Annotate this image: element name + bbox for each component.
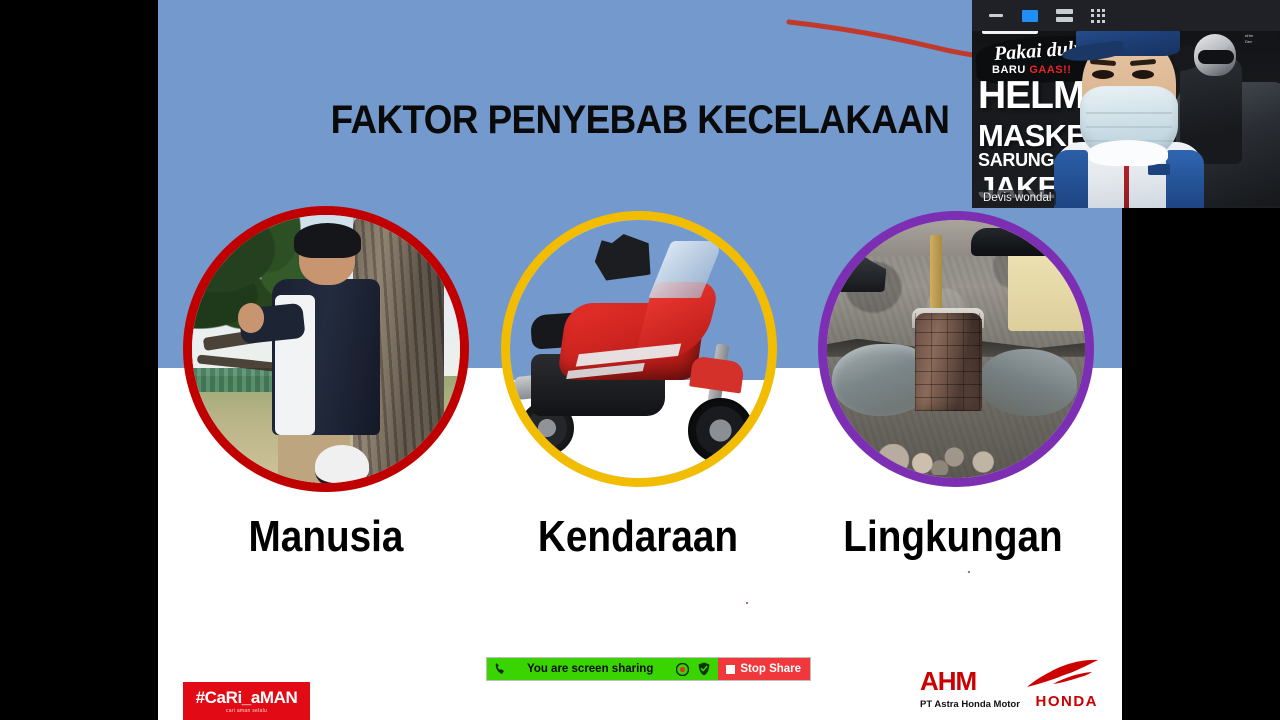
speaker-jacket-left-panel xyxy=(1054,150,1088,208)
caption-manusia: Manusia xyxy=(194,512,458,562)
photo-person-hand xyxy=(238,303,265,332)
stop-square-icon xyxy=(726,665,735,674)
ahm-subtitle: PT Astra Honda Motor xyxy=(920,699,1020,710)
gallery-view-button[interactable] xyxy=(1088,8,1108,24)
circle-ring-red xyxy=(183,206,469,492)
screen-sharing-bar: You are screen sharing Stop Share xyxy=(487,658,810,680)
ahm-honda-logo: AHM PT Astra Honda Motor HONDA xyxy=(920,664,1100,712)
stacked-rows-view-button[interactable] xyxy=(1054,8,1074,24)
ink-dot-artifact-secondary xyxy=(968,571,970,573)
stop-share-label: Stop Share xyxy=(740,663,801,675)
speaker-eye-left xyxy=(1092,70,1114,79)
photo-manusia xyxy=(192,215,460,483)
speaker-jacket-patch xyxy=(1148,164,1170,175)
road-manhole xyxy=(915,313,982,411)
page-title: FAKTOR PENYEBAB KECELAKAAN xyxy=(197,98,1084,143)
factor-circles-row xyxy=(158,206,1122,506)
factor-circle-lingkungan xyxy=(813,206,1099,492)
minimize-icon xyxy=(989,14,1003,17)
phone-icon xyxy=(494,662,506,676)
video-feed[interactable]: Pakai dulu BARU GAAS!! HELM MASKER SARUN… xyxy=(972,14,1280,208)
grid-3x3-icon xyxy=(1091,9,1105,23)
minimize-button[interactable] xyxy=(986,8,1006,24)
participant-name-label: Devis wondal xyxy=(978,190,1056,206)
circle-ring-purple xyxy=(818,211,1094,487)
photo-helmet xyxy=(315,445,369,483)
road-gravel xyxy=(873,444,1017,475)
screen-share-viewport: FAKTOR PENYEBAB KECELAKAAN xyxy=(0,0,1280,720)
road-puddle-right xyxy=(979,349,1077,416)
active-speaker-view-button[interactable] xyxy=(1020,8,1040,24)
photo-kendaraan xyxy=(510,220,768,478)
ink-dot-artifact xyxy=(746,602,748,604)
road-bus-wheel xyxy=(1080,270,1085,281)
speaker-collar xyxy=(1088,140,1168,166)
filled-square-icon xyxy=(1022,10,1038,22)
factor-circle-manusia xyxy=(183,206,469,492)
caption-lingkungan: Lingkungan xyxy=(821,512,1085,562)
shield-check-icon[interactable] xyxy=(698,662,710,676)
factor-captions-row: Manusia Kendaraan Lingkungan xyxy=(158,512,1122,578)
honda-wordmark: HONDA xyxy=(1036,693,1099,710)
share-status-group: You are screen sharing xyxy=(487,658,718,680)
road-car xyxy=(971,228,1048,256)
speaker-jacket-right-panel xyxy=(1166,150,1204,208)
nested-tile-line-2: Dev xyxy=(1245,39,1273,45)
share-status-text: You are screen sharing xyxy=(515,663,667,675)
video-panel-toolbar xyxy=(972,0,1280,31)
circle-ring-yellow xyxy=(501,211,777,487)
factor-circle-kendaraan xyxy=(496,206,782,492)
two-rows-icon xyxy=(1056,9,1073,22)
record-icon[interactable] xyxy=(676,663,689,676)
honda-wing-icon xyxy=(1024,658,1100,690)
photo-lingkungan xyxy=(827,220,1085,478)
stop-share-button[interactable]: Stop Share xyxy=(718,658,810,680)
cari-aman-tagline: cari aman selalu xyxy=(226,709,267,714)
speaker-eye-right xyxy=(1132,70,1154,79)
cari-aman-logo: #CaRi_aMAN cari aman selalu xyxy=(183,682,310,720)
speaker-jacket-zipper xyxy=(1124,162,1129,208)
caption-kendaraan: Kendaraan xyxy=(506,512,770,562)
speaker-webcam-subject xyxy=(1054,14,1204,208)
nested-participant-tile[interactable]: sHm Dev xyxy=(1242,31,1276,53)
road-bus xyxy=(1008,243,1085,331)
video-thumbnail-panel[interactable]: Pakai dulu BARU GAAS!! HELM MASKER SARUN… xyxy=(972,0,1280,208)
cari-aman-wordmark: #CaRi_aMAN xyxy=(196,689,298,706)
photo-person-hair xyxy=(294,223,361,258)
ahm-wordmark: AHM xyxy=(920,666,976,697)
scooter-front-wheel xyxy=(688,398,753,463)
